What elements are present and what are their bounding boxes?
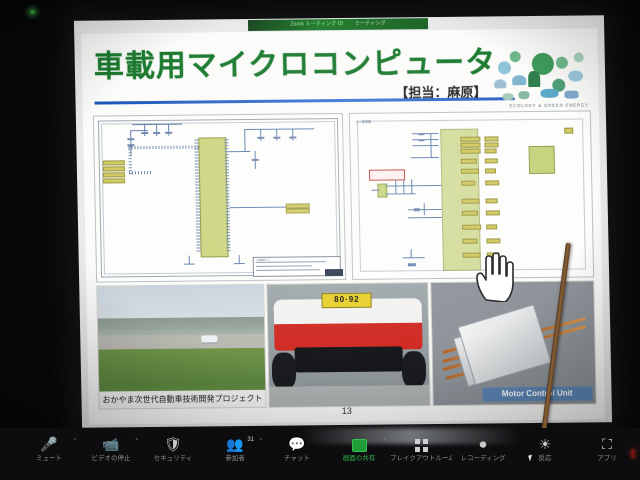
toolbar-item-label: 画面の共有 xyxy=(328,454,390,463)
record-icon[interactable]: ⏺ xyxy=(452,434,514,454)
license-plate: 80·92 xyxy=(322,292,372,308)
projection-screen: Zoom ミーティング ID ミーティング 車載用マイクロコンピュータ 【担当：… xyxy=(74,15,612,427)
participants-count: 31 xyxy=(247,437,254,443)
chat-icon[interactable]: 💬 xyxy=(266,434,328,454)
toolbar-item-label: 反応 xyxy=(514,454,576,463)
test-course-photo: おかやま次世代自動車技術開発プロジェクト xyxy=(96,284,266,410)
participants-icon[interactable]: 👥 xyxy=(204,434,266,454)
status-led xyxy=(30,10,35,14)
hand-pointer-cursor xyxy=(472,250,516,302)
conference-banner-secondary: ミーティング xyxy=(355,21,386,27)
toolbar-video-button[interactable]: 📹 ビデオの停止 ^ xyxy=(80,434,142,463)
toolbar-mute-button[interactable]: 🎤 ミュート ^ xyxy=(18,434,80,463)
chip-thumbnail xyxy=(529,146,556,174)
share-screen-icon[interactable] xyxy=(328,434,390,454)
toolbar-chat-button[interactable]: 💬 チャット xyxy=(266,434,328,463)
page-title: 車載用マイクロコンピュータ xyxy=(93,37,496,85)
highlight-note xyxy=(369,169,405,180)
toolbar-item-label: ビデオの停止 xyxy=(80,454,142,463)
connector-pad xyxy=(103,178,125,183)
logo-caption: ECOLOGY & GREEN ENERGY xyxy=(509,102,588,108)
chevron-up-icon[interactable]: ^ xyxy=(136,438,138,444)
chevron-up-icon[interactable]: ^ xyxy=(260,438,262,444)
right-schematic-label: ピン配置図 xyxy=(356,120,371,124)
photo-caption: おかやま次世代自動車技術開発プロジェクト xyxy=(99,390,265,409)
meeting-toolbar[interactable]: 🎤 ミュート ^ 📹 ビデオの停止 ^ 🛡 セキュリティ 👥 31 参加者 ^ xyxy=(0,428,640,480)
drawing-stamp xyxy=(325,269,343,276)
toolbar-apps-button[interactable]: ⛶ アプリ xyxy=(576,434,638,463)
toolbar-share-screen-button[interactable]: 画面の共有 ^ xyxy=(328,434,390,463)
drawing-number: SHEET 1 xyxy=(257,258,270,262)
title-divider xyxy=(95,97,515,104)
toolbar-item-label: ミュート xyxy=(18,454,80,463)
toolbar-item-label: アプリ xyxy=(576,454,638,463)
conference-banner: Zoom ミーティング ID ミーティング xyxy=(248,18,428,31)
toolbar-item-label: ブレイクアウトルーム xyxy=(390,454,452,463)
toolbar-item-label: レコーディング xyxy=(452,454,514,463)
connector-pad xyxy=(103,160,125,165)
toolbar-reactions-button[interactable]: ☀ 反応 xyxy=(514,434,576,463)
connector-pad xyxy=(103,166,125,171)
left-schematic: SHEET 1 xyxy=(93,113,346,283)
breakout-rooms-icon[interactable] xyxy=(390,434,452,454)
presentation-slide: 車載用マイクロコンピュータ 【担当：麻原】 ECOLOGY & G xyxy=(81,28,605,424)
chevron-up-icon[interactable]: ^ xyxy=(74,438,76,444)
microphone-icon[interactable]: 🎤 xyxy=(18,434,80,454)
toolbar-item-label: チャット xyxy=(266,454,328,463)
toolbar-breakout-rooms-button[interactable]: ブレイクアウトルーム xyxy=(390,434,452,463)
chevron-up-icon[interactable]: ^ xyxy=(384,438,386,444)
ecology-green-energy-logo xyxy=(487,44,592,107)
photo-caption: Motor Control Unit xyxy=(482,386,592,401)
connector-pad xyxy=(103,172,125,177)
toolbar-participants-button[interactable]: 👥 31 参加者 ^ xyxy=(204,434,266,463)
video-camera-icon[interactable]: 📹 xyxy=(80,434,142,454)
connector-pad xyxy=(286,208,310,213)
security-icon[interactable]: 🛡 xyxy=(142,434,204,454)
toolbar-security-button[interactable]: 🛡 セキュリティ xyxy=(142,434,204,463)
toolbar-record-button[interactable]: ⏺ レコーディング xyxy=(452,434,514,463)
reactions-icon[interactable]: ☀ xyxy=(514,434,576,454)
race-car-photo: 80·92 xyxy=(266,282,430,408)
conference-banner-text: Zoom ミーティング ID xyxy=(290,21,343,28)
toolbar-item-label: セキュリティ xyxy=(142,454,204,463)
dark-room-background: Zoom ミーティング ID ミーティング 車載用マイクロコンピュータ 【担当：… xyxy=(0,0,640,480)
test-vehicle xyxy=(201,335,217,342)
indicator-led xyxy=(631,449,635,458)
toolbar-item-label: 参加者 xyxy=(204,454,266,463)
apps-icon[interactable]: ⛶ xyxy=(576,434,638,454)
